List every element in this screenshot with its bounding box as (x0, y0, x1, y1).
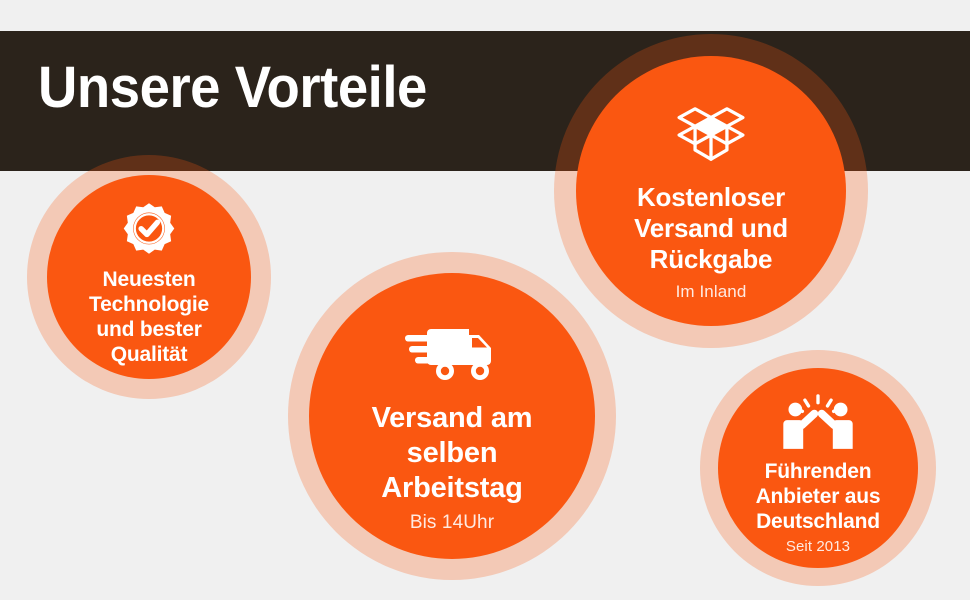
promo-banner: Unsere Vorteile Neuesten Technologie und… (0, 0, 970, 600)
badge-leading-supplier-inner: Führenden Anbieter aus Deutschland Seit … (718, 368, 918, 568)
badge-quality-inner: Neuesten Technologie und bester Qualität (47, 175, 251, 379)
page-title: Unsere Vorteile (38, 57, 427, 119)
badge-leading-supplier-title: Führenden Anbieter aus Deutschland (756, 459, 881, 534)
badge-leading-supplier-subtitle: Seit 2013 (786, 538, 850, 556)
badge-quality-title: Neuesten Technologie und bester Qualität (89, 267, 209, 367)
open-box-icon (674, 96, 748, 170)
badge-free-shipping-subtitle: Im Inland (676, 282, 747, 302)
quality-seal-check-icon (121, 201, 177, 257)
delivery-truck-icon (405, 323, 499, 385)
badge-same-day-shipping-inner: Versand am selben Arbeitstag Bis 14Uhr (309, 273, 595, 559)
badge-free-shipping[interactable]: Kostenloser Versand und Rückgabe Im Inla… (554, 34, 868, 348)
badge-leading-supplier[interactable]: Führenden Anbieter aus Deutschland Seit … (700, 350, 936, 586)
badge-same-day-shipping[interactable]: Versand am selben Arbeitstag Bis 14Uhr (288, 252, 616, 580)
badge-free-shipping-title: Kostenloser Versand und Rückgabe (634, 182, 788, 275)
badge-free-shipping-inner: Kostenloser Versand und Rückgabe Im Inla… (576, 56, 846, 326)
badge-same-day-shipping-subtitle: Bis 14Uhr (410, 512, 494, 534)
badge-same-day-shipping-title: Versand am selben Arbeitstag (372, 401, 533, 506)
high-five-people-icon (781, 394, 855, 450)
badge-quality[interactable]: Neuesten Technologie und bester Qualität (27, 155, 271, 399)
